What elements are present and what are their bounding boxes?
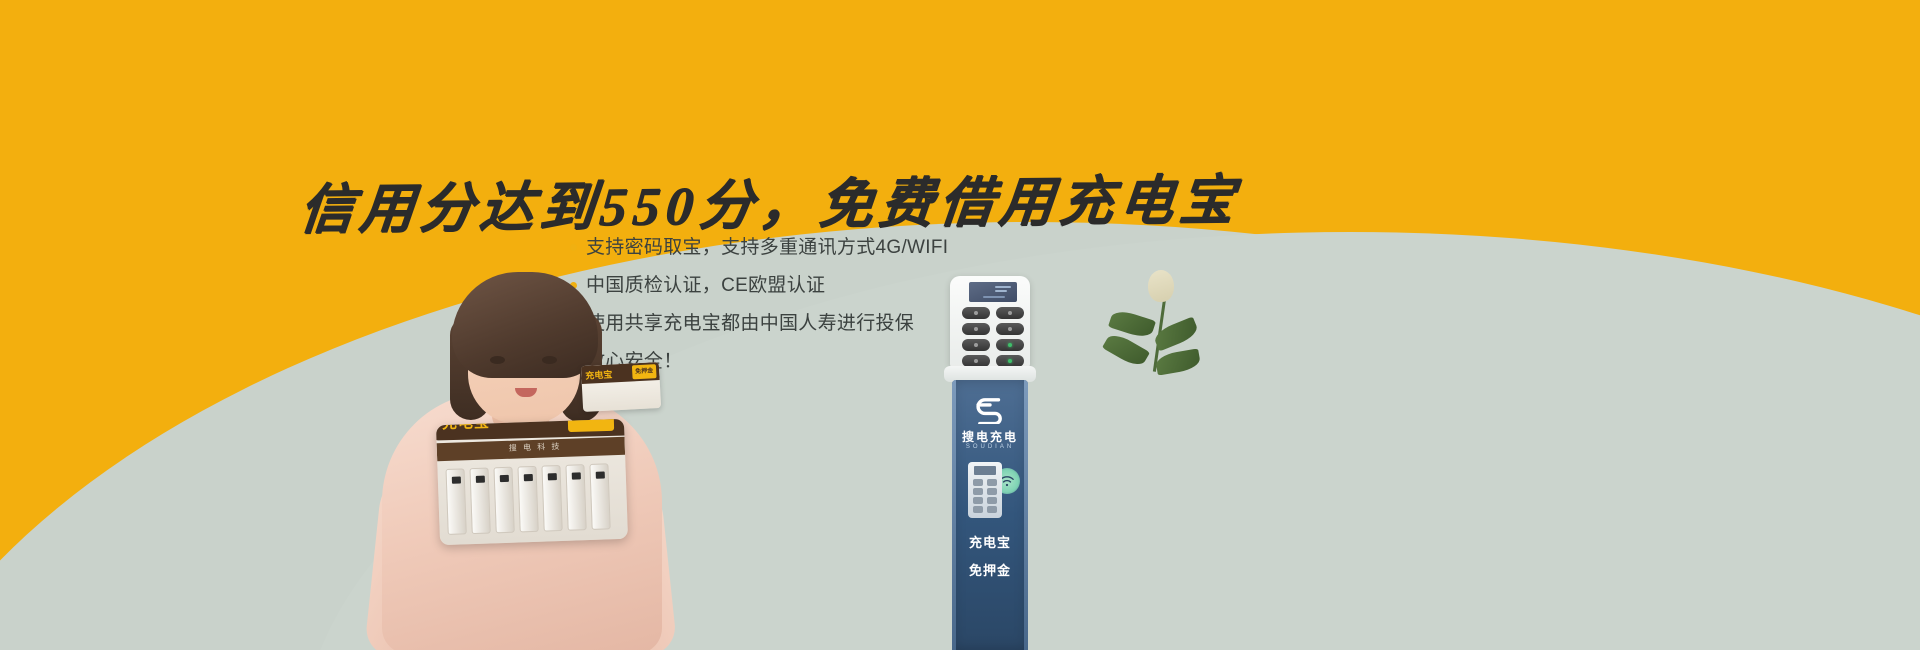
- cabinet-tag: 免押金: [567, 419, 614, 432]
- kiosk-slot[interactable]: [996, 323, 1024, 335]
- kiosk-dispenser-head: [950, 276, 1030, 368]
- illustration-slot: [987, 497, 997, 504]
- kiosk-slot-led-icon: [974, 311, 978, 315]
- kiosk-slot-led-icon: [974, 343, 978, 347]
- cabinet-slot-group: [445, 463, 610, 535]
- cabinet-brand-text: 搜 电 科 技: [509, 441, 562, 454]
- illustration-slot: [973, 506, 983, 513]
- cabinet-slot: [445, 468, 466, 535]
- kiosk-edge-left: [952, 380, 956, 650]
- kiosk-headline-primary: 充电宝: [952, 532, 1028, 551]
- kiosk-slot-led-icon: [1008, 311, 1012, 315]
- handheld-charging-cabinet: 充电宝 免押金 搜 电 科 技: [436, 419, 628, 545]
- kiosk-slot-led-icon: [1008, 343, 1012, 347]
- kiosk-headline-secondary: 免押金: [952, 560, 1028, 579]
- kiosk-slot[interactable]: [962, 339, 990, 351]
- cabinet-slot: [565, 464, 586, 531]
- cabinet-brand-strip: 搜 电 科 技: [437, 437, 626, 462]
- charging-kiosk: 搜电充电 SOUDIAN: [944, 276, 1036, 650]
- kiosk-slot[interactable]: [962, 307, 990, 319]
- kiosk-illustration-screen: [974, 466, 996, 475]
- illustration-slot: [973, 479, 983, 486]
- kiosk-screen-line: [995, 286, 1011, 288]
- cabinet-slot: [469, 468, 490, 535]
- rose-bud: [1148, 270, 1174, 302]
- model-eye-left: [490, 356, 505, 364]
- kiosk-brand-name: 搜电充电: [952, 428, 1028, 445]
- cabinet-slot: [517, 466, 538, 533]
- illustration-slot: [987, 488, 997, 495]
- kiosk-screen-line: [995, 290, 1007, 292]
- illustration-slot: [973, 497, 983, 504]
- product-box-tag: 免押金: [632, 364, 657, 379]
- kiosk-slot[interactable]: [996, 339, 1024, 351]
- illustration-slot: [987, 479, 997, 486]
- kiosk-screen-line: [983, 296, 1005, 298]
- kiosk-slot-grid: [962, 307, 1024, 367]
- kiosk-illustration-slots: [973, 479, 997, 513]
- rose-decoration-icon: [1100, 270, 1220, 390]
- promo-banner: 信用分达到550分，免费借用充电宝 支持密码取宝，支持多重通讯方式4G/WIFI…: [0, 0, 1920, 650]
- model-eye-right: [542, 356, 557, 364]
- rose-leaf: [1155, 348, 1202, 375]
- product-box-label: 充电宝: [585, 367, 613, 381]
- kiosk-slot[interactable]: [996, 307, 1024, 319]
- cabinet-slot: [493, 467, 514, 534]
- kiosk-slot[interactable]: [962, 323, 990, 335]
- product-box-header: 充电宝 免押金: [581, 362, 660, 384]
- kiosk-slot-led-icon: [1008, 327, 1012, 331]
- kiosk-screen[interactable]: [969, 282, 1017, 302]
- soudian-logo-icon: [973, 396, 1007, 424]
- illustration-slot: [987, 506, 997, 513]
- kiosk-edge-right: [1024, 380, 1028, 650]
- feature-text: 支持密码取宝，支持多重通讯方式4G/WIFI: [586, 232, 948, 263]
- kiosk-slot-led-icon: [1008, 359, 1012, 363]
- kiosk-illustration: [968, 462, 1002, 518]
- kiosk-slot-led-icon: [974, 327, 978, 331]
- list-item: 支持密码取宝，支持多重通讯方式4G/WIFI: [570, 232, 1040, 263]
- rose-leaf: [1102, 330, 1150, 369]
- cabinet-slot: [541, 465, 562, 532]
- kiosk-brand-name-en: SOUDIAN: [952, 444, 1028, 450]
- wifi-icon: [1000, 475, 1014, 490]
- illustration-slot: [973, 488, 983, 495]
- model-hair-top: [452, 272, 598, 378]
- kiosk-body-panel: 搜电充电 SOUDIAN: [952, 380, 1028, 650]
- kiosk-slot-led-icon: [974, 359, 978, 363]
- bullet-dot-icon: [570, 244, 577, 251]
- product-box: 充电宝 免押金: [581, 362, 661, 412]
- cabinet-slot: [589, 463, 610, 530]
